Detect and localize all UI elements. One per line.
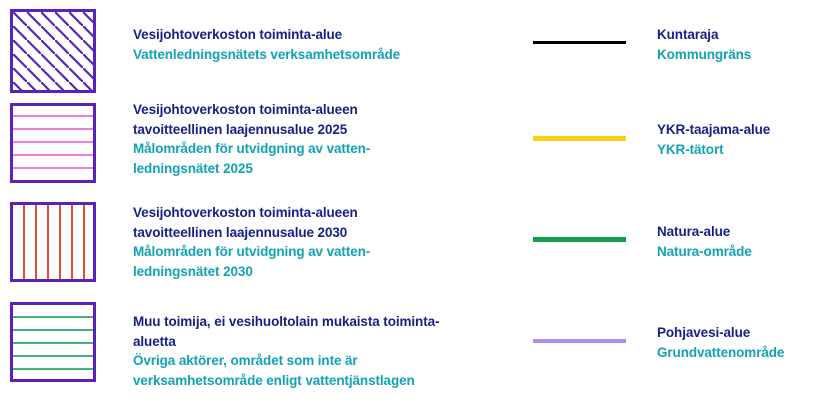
- legend-label-fi-3: Vesijohtoverkoston toiminta-alueen tavoi…: [133, 203, 523, 242]
- legend-label-sv-1: Vattenledningsnätets verksamhetsområde: [133, 45, 523, 65]
- legend-label-sv-4: Övriga aktörer, området som inte är verk…: [133, 351, 533, 390]
- legend-line-sample-natura: [533, 237, 626, 242]
- legend-line-label-sv-4: Grundvattenområde: [657, 343, 784, 363]
- swatch-pattern-horizontal-pink: [13, 106, 93, 180]
- legend-swatch-horizontal-hatch-pink: [10, 103, 96, 183]
- legend-line-sample-pohjavesi: [533, 339, 626, 343]
- legend-line-label-fi-4: Pohjavesi-alue: [657, 323, 750, 343]
- legend-swatch-horizontal-hatch-green: [10, 302, 96, 382]
- legend-line-label-sv-3: Natura-område: [657, 242, 752, 262]
- map-legend: Vesijohtoverkoston toiminta-alue Vattenl…: [0, 0, 822, 400]
- legend-label-fi-2: Vesijohtoverkoston toiminta-alueen tavoi…: [133, 100, 523, 139]
- legend-line-label-sv-2: YKR-tätort: [657, 140, 724, 160]
- legend-label-sv-3: Målområden för utvidgning av vatten- led…: [133, 242, 523, 281]
- swatch-pattern-diagonal: [13, 12, 93, 90]
- legend-line-label-fi-1: Kuntaraja: [657, 25, 718, 45]
- legend-label-fi-4: Muu toimija, ei vesihuoltolain mukaista …: [133, 312, 533, 351]
- legend-line-sample-ykr: [533, 136, 626, 141]
- swatch-pattern-vertical-red: [13, 205, 93, 279]
- legend-line-label-sv-1: Kommungräns: [657, 45, 751, 65]
- legend-swatch-diagonal-hatch: [10, 9, 96, 93]
- legend-swatch-vertical-hatch-red: [10, 202, 96, 282]
- legend-line-label-fi-3: Natura-alue: [657, 222, 730, 242]
- legend-line-sample-kuntaraja: [533, 41, 626, 44]
- legend-label-fi-1: Vesijohtoverkoston toiminta-alue: [133, 25, 523, 45]
- legend-label-sv-2: Målområden för utvidgning av vatten- led…: [133, 139, 523, 178]
- legend-line-label-fi-2: YKR-taajama-alue: [657, 120, 770, 140]
- swatch-pattern-horizontal-green: [13, 305, 93, 379]
